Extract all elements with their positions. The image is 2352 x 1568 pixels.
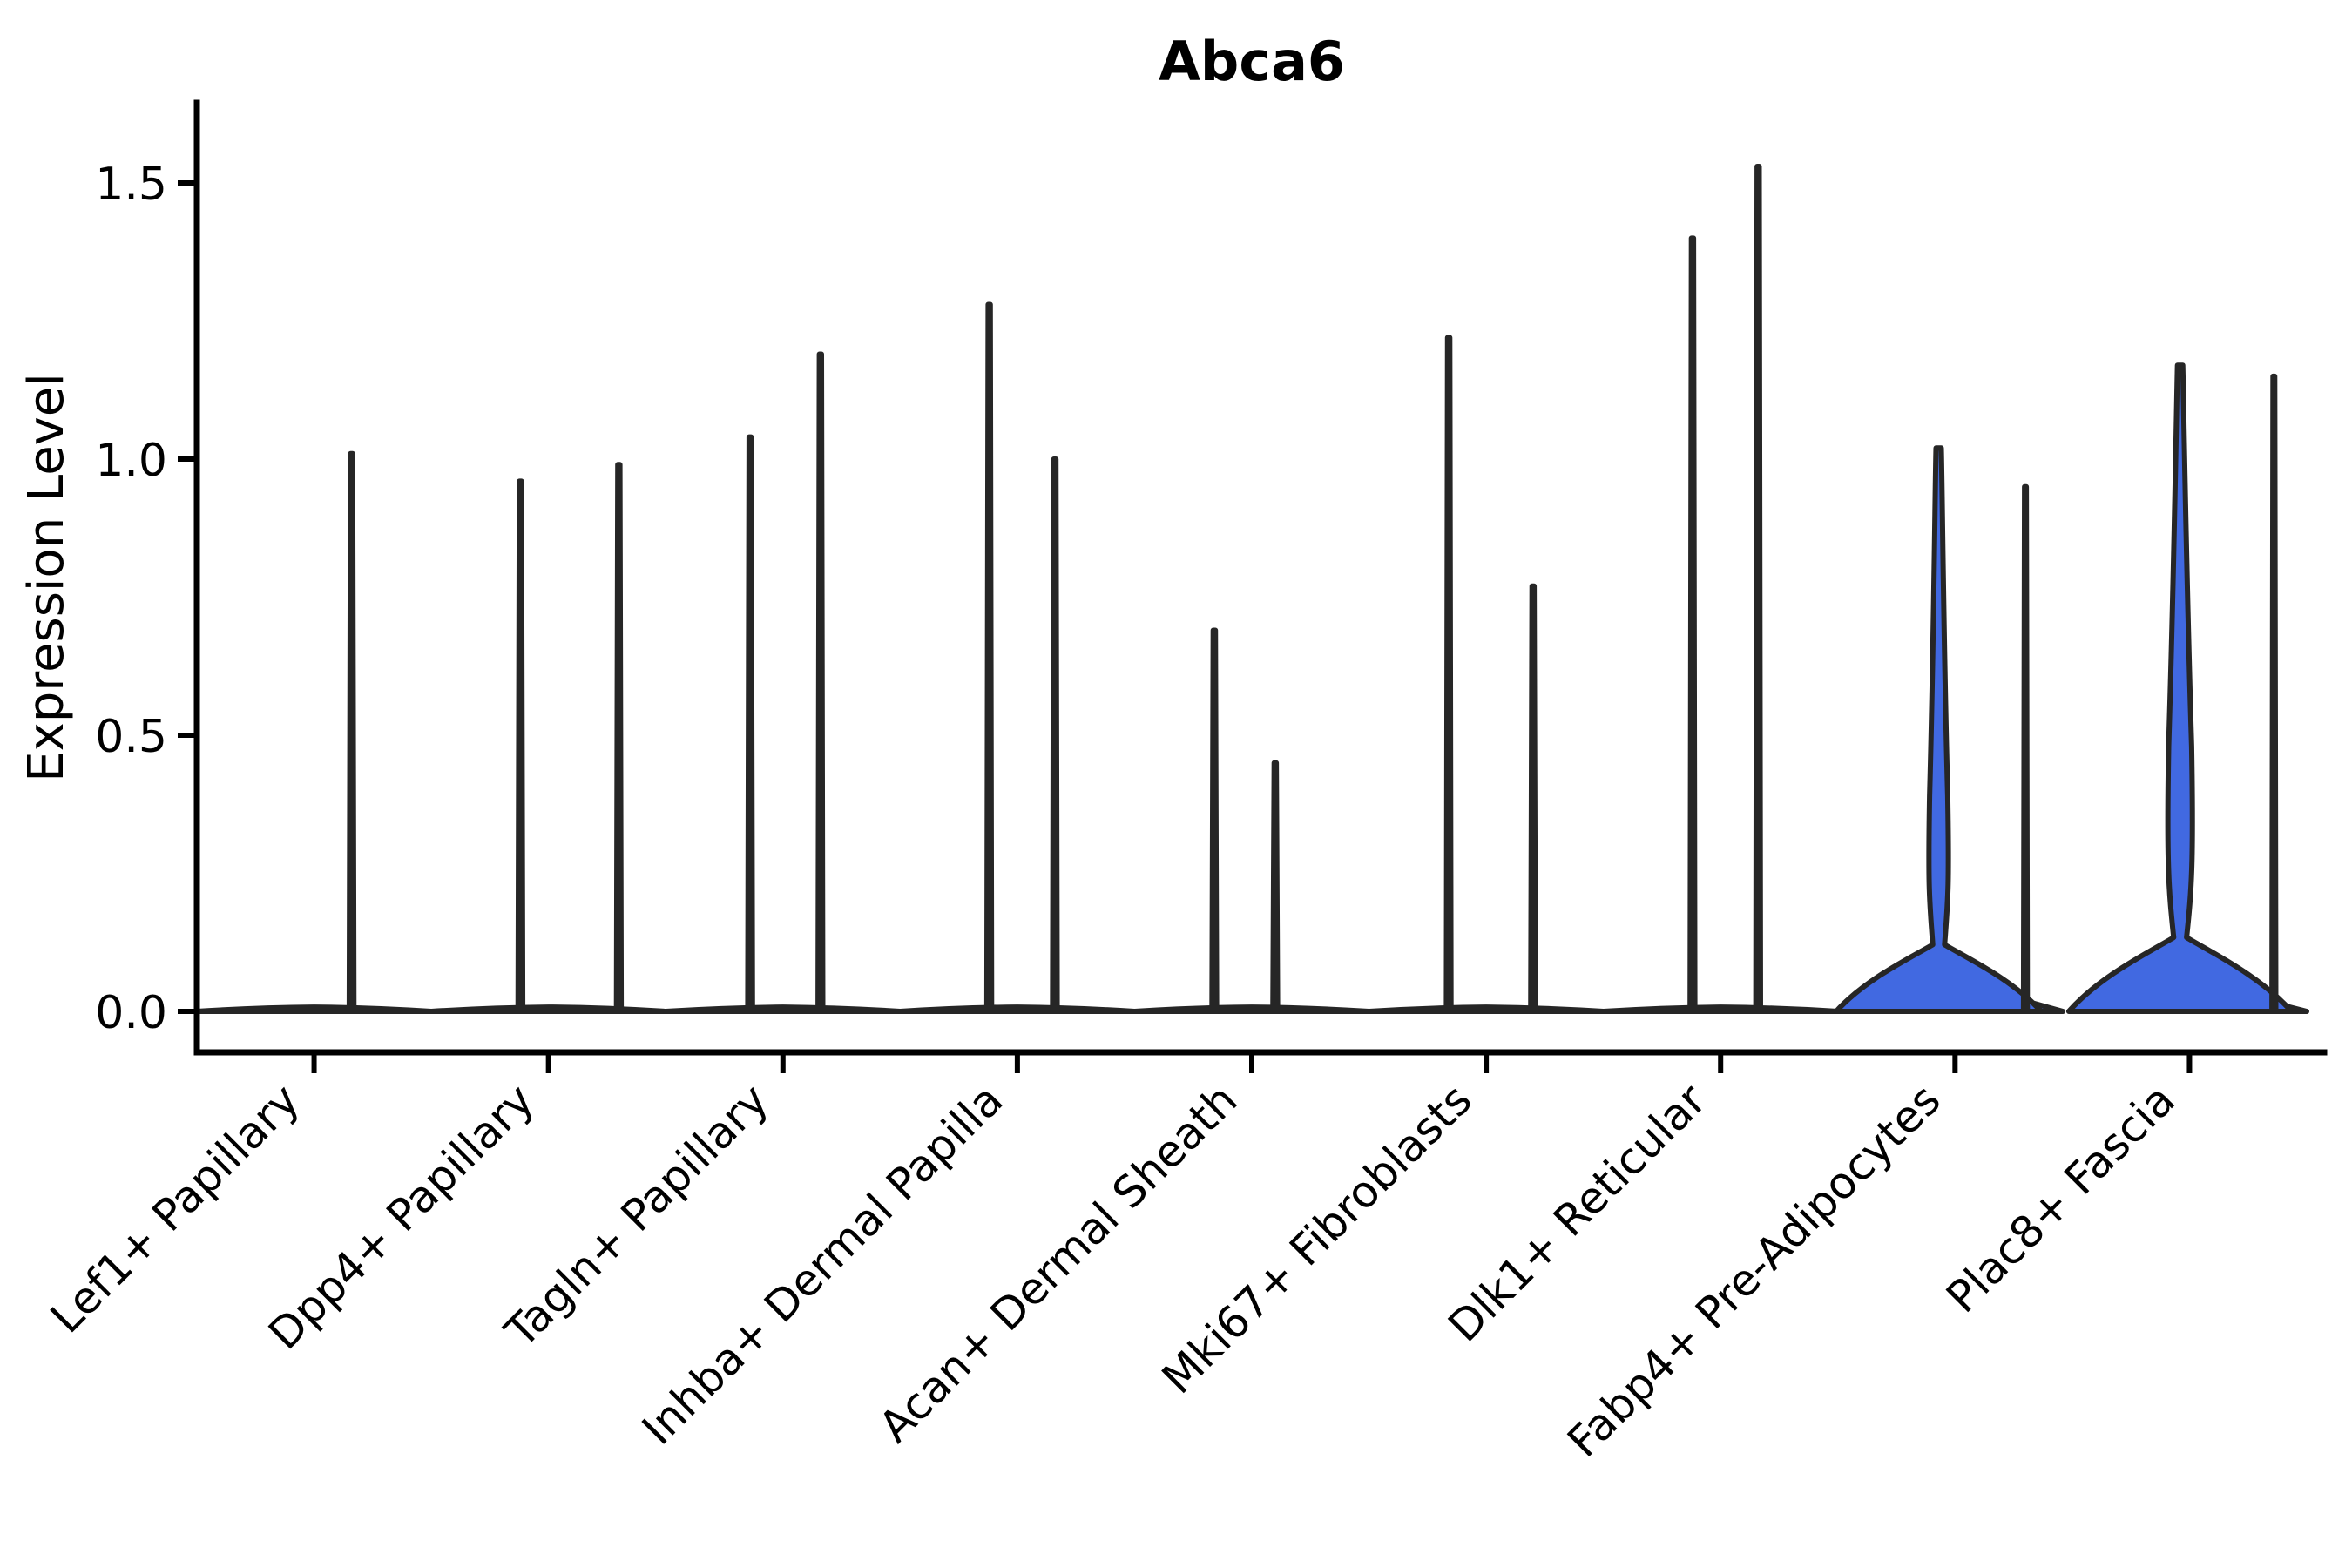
violin-5 <box>1369 338 1604 1012</box>
violin-plot-figure: 0.00.51.01.5Lef1+ PapillaryDpp4+ Papilla… <box>0 0 2352 1568</box>
violin-spike <box>518 481 523 1011</box>
violin-spike <box>2024 487 2027 1011</box>
violin-7 <box>1836 448 2063 1011</box>
violin-shape <box>431 1007 666 1011</box>
violin-shape <box>666 1007 900 1011</box>
violin-spike <box>2272 376 2275 1011</box>
violin-spike <box>1212 631 1216 1012</box>
violin-spike <box>987 305 991 1012</box>
violin-shape <box>2069 365 2292 1011</box>
axes-layer <box>178 103 2324 1073</box>
violin-spike <box>1690 238 1694 1011</box>
violin-spike <box>1446 338 1450 1012</box>
violin-0 <box>197 454 431 1011</box>
violin-1 <box>431 464 666 1011</box>
x-tick-label: Plac8+ Fascia <box>1936 1074 2185 1322</box>
violin-spike <box>1531 586 1535 1011</box>
violin-spike <box>617 464 621 1011</box>
violin-3 <box>900 305 1134 1012</box>
chart-title: Abca6 <box>1159 30 1345 93</box>
violin-spike <box>1273 763 1277 1011</box>
y-tick-label: 0.5 <box>95 711 167 763</box>
violin-8 <box>2069 365 2307 1011</box>
violin-shape <box>197 1007 431 1011</box>
y-tick-label: 1.5 <box>95 159 167 211</box>
violin-shape <box>1604 1007 1838 1011</box>
x-tick-label: Dlk1+ Reticular <box>1439 1074 1716 1351</box>
y-axis-title: Expression Level <box>18 373 75 782</box>
violin-2 <box>666 355 900 1012</box>
violin-spike <box>818 355 822 1012</box>
violins-layer <box>197 166 2307 1011</box>
y-tick-label: 0.0 <box>95 987 167 1039</box>
violin-6 <box>1604 166 1838 1011</box>
violin-spike <box>747 437 752 1011</box>
x-tick-label: Fabp4+ Pre-Adipocytes <box>1558 1074 1950 1467</box>
violin-spike <box>1052 459 1057 1011</box>
x-tick-label: Lef1+ Papillary <box>41 1074 309 1342</box>
y-tick-label: 1.0 <box>95 435 167 487</box>
violin-shape <box>1134 1007 1369 1011</box>
violin-shape <box>900 1007 1134 1011</box>
labels-layer: 0.00.51.01.5Lef1+ PapillaryDpp4+ Papilla… <box>18 30 2185 1467</box>
violin-4 <box>1134 631 1369 1012</box>
violin-shape <box>1369 1007 1604 1011</box>
violin-spike <box>349 454 354 1011</box>
plot-canvas: 0.00.51.01.5Lef1+ PapillaryDpp4+ Papilla… <box>0 0 2352 1568</box>
violin-spike <box>1756 166 1761 1011</box>
violin-shape <box>1836 448 2041 1011</box>
